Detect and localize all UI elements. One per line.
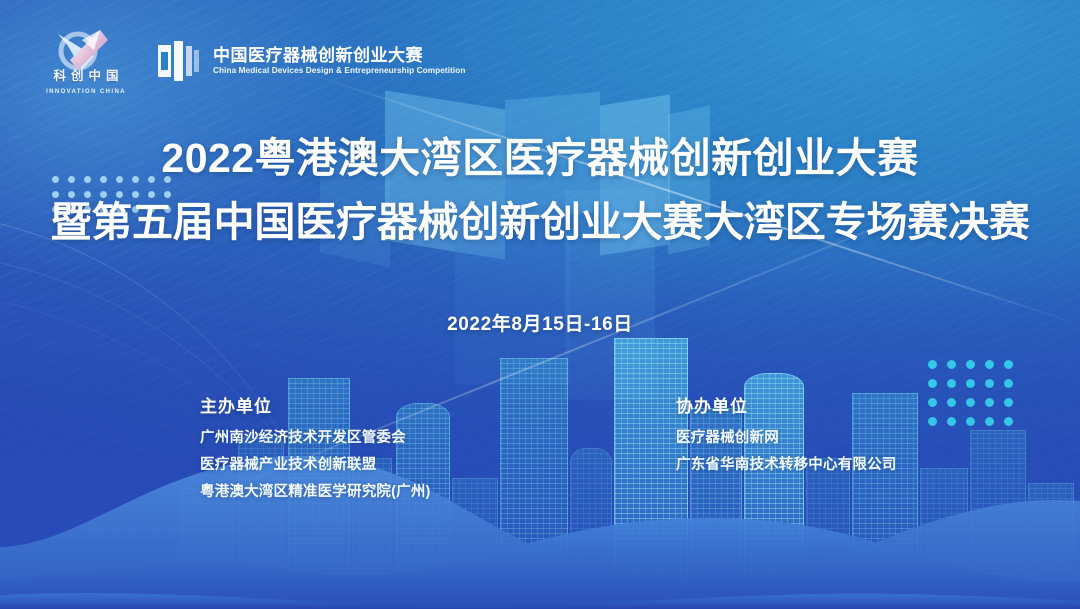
competition-mark-icon [156,38,202,84]
organizer-item: 广州南沙经济技术开发区管委会 [200,426,431,447]
competition-logo[interactable]: 中国医疗器械创新创业大赛 China Medical Devices Desig… [156,38,465,84]
innovation-china-label-cn: 科创中国 [38,65,134,84]
organizers-block: 主办单位 广州南沙经济技术开发区管委会 医疗器械产业技术创新联盟 粤港澳大湾区精… [200,392,431,501]
dot-grid-right [928,360,1023,436]
competition-name-cn: 中国医疗器械创新创业大赛 [213,47,465,65]
innovation-china-logo[interactable]: 科创中国 INNOVATION CHINA [38,26,134,96]
organizers-heading: 主办单位 [200,392,431,417]
conference-banner: 科创中国 INNOVATION CHINA 中国医疗器械创新创业大赛 China… [0,0,1080,609]
organizer-item: 医疗器械产业技术创新联盟 [200,453,431,474]
organizer-item: 粤港澳大湾区精准医学研究院(广州) [200,480,431,501]
banner-title-line-2: 暨第五届中国医疗器械创新创业大赛大湾区专场赛决赛 [0,198,1080,246]
competition-logo-text: 中国医疗器械创新创业大赛 China Medical Devices Desig… [213,47,465,75]
header-logo-bar: 科创中国 INNOVATION CHINA 中国医疗器械创新创业大赛 China… [38,26,465,96]
banner-title-block: 2022粤港澳大湾区医疗器械创新创业大赛 暨第五届中国医疗器械创新创业大赛大湾区… [0,134,1080,247]
co-organizers-block: 协办单位 医疗器械创新网 广东省华南技术转移中心有限公司 [676,392,897,474]
wave-decoration [0,429,1080,609]
banner-title-line-1: 2022粤港澳大湾区医疗器械创新创业大赛 [0,134,1080,182]
competition-name-en: China Medical Devices Design & Entrepren… [213,67,465,76]
co-organizer-item: 广东省华南技术转移中心有限公司 [676,453,897,474]
innovation-china-label-en: INNOVATION CHINA [38,89,134,95]
co-organizer-item: 医疗器械创新网 [676,426,897,447]
co-organizers-heading: 协办单位 [676,392,897,417]
event-date: 2022年8月15日-16日 [0,309,1080,336]
